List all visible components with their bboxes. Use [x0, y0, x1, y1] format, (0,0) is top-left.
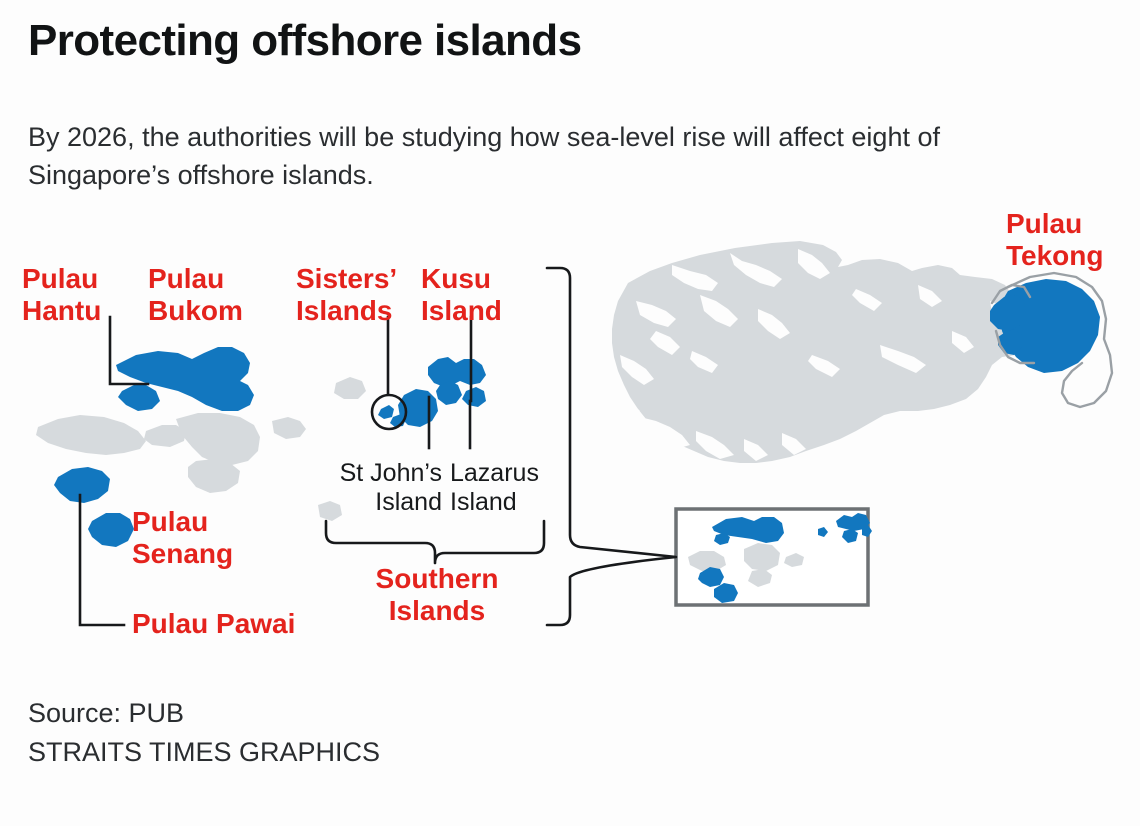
label-pulau-senang: Pulau Senang	[132, 506, 233, 570]
island-pulau-tekong	[990, 273, 1112, 407]
island-southern-cluster	[398, 357, 486, 427]
inset-locator-box	[676, 509, 872, 605]
source-line-1: Source: PUB	[28, 694, 380, 733]
label-pulau-bukom: Pulau Bukom	[148, 263, 243, 327]
island-pulau-pawai	[88, 513, 134, 547]
label-st-johns-island: St John’s Island	[318, 459, 442, 516]
page-title: Protecting offshore islands	[28, 16, 581, 67]
label-southern-islands: Southern Islands	[367, 563, 507, 627]
label-kusu-island: Kusu Island	[421, 263, 502, 327]
label-sisters-islands: Sisters’ Islands	[296, 263, 397, 327]
source-line-2: STRAITS TIMES GRAPHICS	[28, 733, 380, 772]
label-pulau-tekong: Pulau Tekong	[1006, 208, 1103, 272]
island-pulau-senang	[54, 467, 110, 503]
label-pulau-hantu: Pulau Hantu	[22, 263, 101, 327]
page-subtitle: By 2026, the authorities will be studyin…	[28, 118, 1058, 195]
source-block: Source: PUB STRAITS TIMES GRAPHICS	[28, 694, 380, 772]
southern-islands-brace	[326, 521, 544, 563]
label-pulau-pawai: Pulau Pawai	[132, 608, 295, 640]
infographic-root: Protecting offshore islands By 2026, the…	[0, 0, 1140, 826]
island-pulau-bukom	[116, 347, 254, 411]
label-lazarus-island: Lazarus Island	[450, 459, 580, 516]
